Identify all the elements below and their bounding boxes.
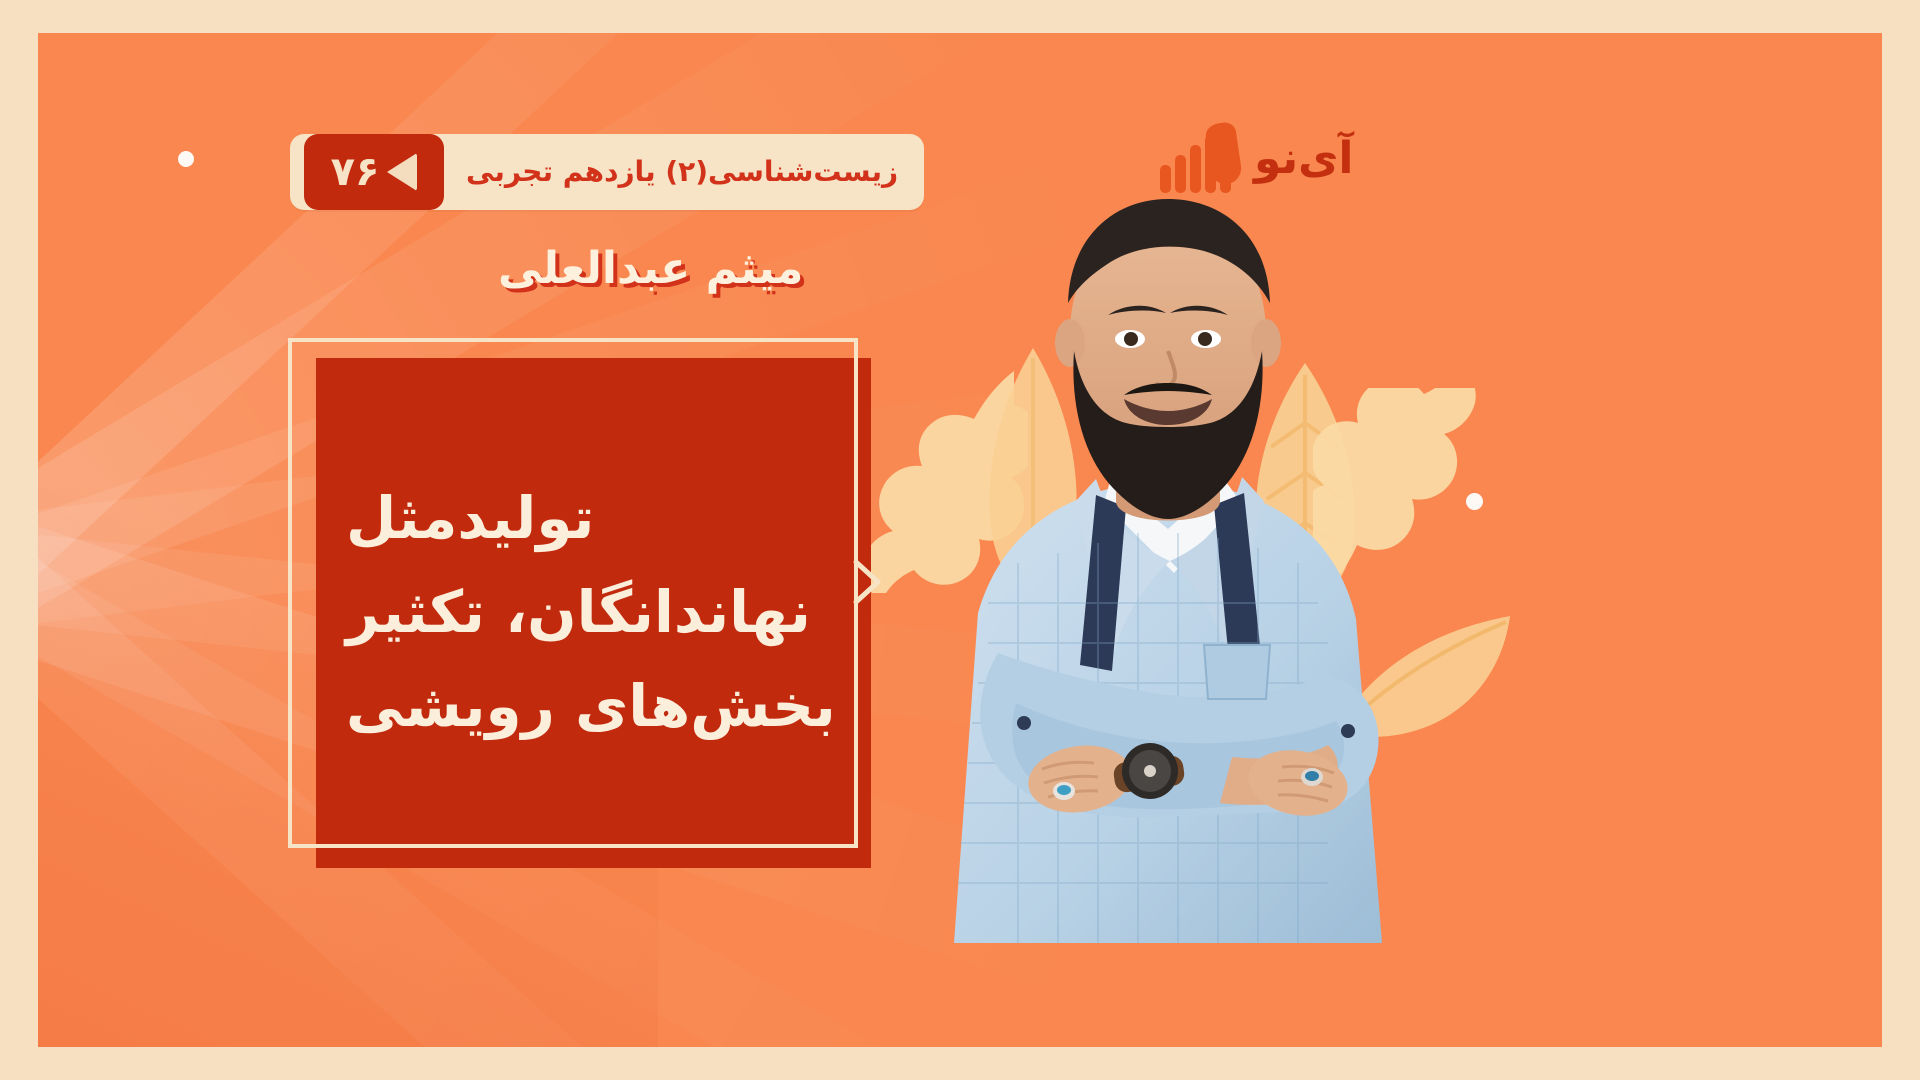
decor-dot-left [178, 151, 194, 167]
instructor-name: میثم عبدالعلی [498, 245, 868, 293]
episode-badge[interactable]: ۷۶ زیست‌شناسی(۲) یازدهم تجربی [290, 134, 924, 210]
decor-dot-right [1466, 493, 1483, 510]
episode-number: ۷۶ [331, 152, 380, 192]
hand-bars-logo-icon [1158, 121, 1244, 197]
presenter-photo [828, 183, 1468, 943]
lesson-title-line-1: تولیدمثل [346, 472, 594, 566]
poster-frame: ۷۶ زیست‌شناسی(۲) یازدهم تجربی میثم عبدال… [0, 0, 1920, 1080]
brand-logo[interactable]: آی‌نو [1158, 121, 1354, 197]
course-title: زیست‌شناسی(۲) یازدهم تجربی [444, 158, 924, 186]
episode-chip[interactable]: ۷۶ [304, 134, 444, 210]
play-icon[interactable] [387, 153, 417, 191]
lesson-title-line-3: بخش‌های رویشی [346, 660, 836, 754]
lesson-title: تولیدمثل نهاندانگان، تکثیر بخش‌های رویشی [316, 358, 871, 868]
brand-name: آی‌نو [1254, 137, 1354, 181]
lesson-title-line-2: نهاندانگان، تکثیر [346, 566, 811, 660]
poster-stage: ۷۶ زیست‌شناسی(۲) یازدهم تجربی میثم عبدال… [38, 33, 1882, 1047]
